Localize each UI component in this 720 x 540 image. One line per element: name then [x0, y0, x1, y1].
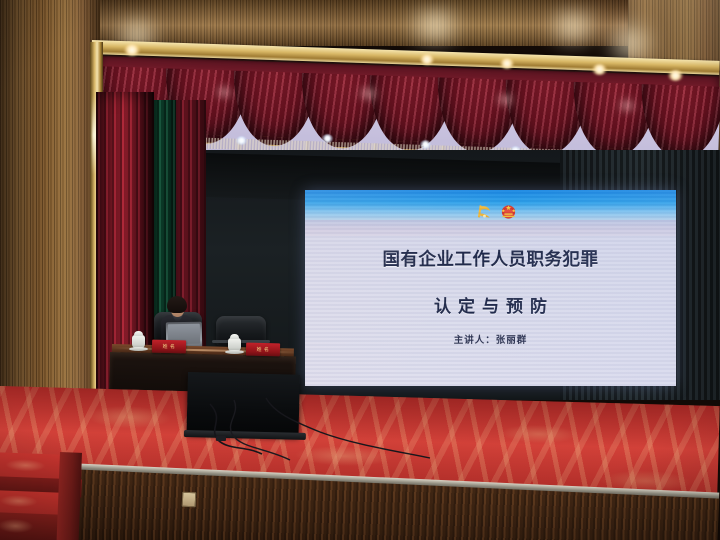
wall-outlet-icon[interactable] — [182, 492, 197, 508]
downlight-warm — [124, 44, 140, 56]
downlight-warm — [592, 64, 607, 75]
downlight-warm — [420, 54, 434, 65]
valance-highlight — [493, 93, 517, 106]
nameplate-right: 姓 名 — [246, 343, 280, 357]
carpet-swirl — [0, 494, 38, 507]
stage-step-side-panel — [57, 452, 82, 540]
screen-sheen — [305, 190, 676, 386]
teacup-left — [132, 335, 145, 349]
carpet-swirl — [0, 518, 34, 533]
projection-screen[interactable]: 国有企业工作人员职务犯罪 认定与预防 主讲人：张丽群 — [305, 190, 676, 386]
carpet-swirl — [5, 459, 45, 473]
wall-light-glow-3 — [540, 10, 606, 44]
valance-highlight — [355, 87, 381, 101]
nameplate-right-text: 姓 名 — [246, 343, 280, 357]
teacup-right — [228, 338, 241, 352]
downlight-warm — [668, 70, 683, 81]
auditorium-scene: 国有企业工作人员职务犯罪 认定与预防 主讲人：张丽群 姓 名 姓 名 — [0, 0, 720, 540]
speaker-hair — [167, 296, 187, 313]
wall-light-glow-2 — [400, 8, 470, 44]
nameplate-left-text: 姓 名 — [152, 340, 186, 354]
ceiling-downlight — [420, 140, 431, 149]
valance-highlight — [615, 99, 639, 112]
ceiling-downlight — [322, 134, 333, 143]
floor-cables — [170, 398, 360, 468]
stage-step-lower-riser — [0, 512, 65, 540]
nameplate-left: 姓 名 — [152, 340, 186, 354]
downlight-warm — [500, 58, 514, 69]
ceiling-downlight — [236, 136, 247, 145]
